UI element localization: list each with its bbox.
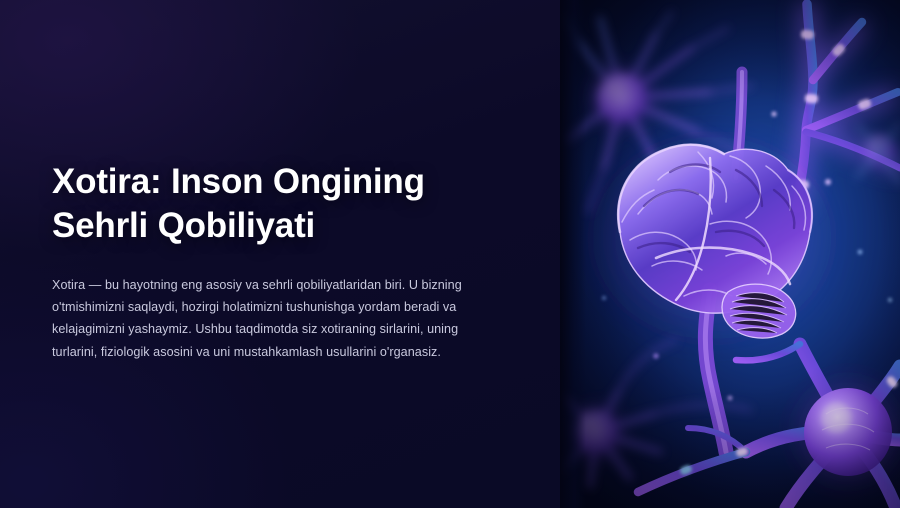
slide-title: Xotira: Inson Ongining Sehrli Qobiliyati bbox=[52, 160, 482, 248]
text-content-block: Xotira: Inson Ongining Sehrli Qobiliyati… bbox=[52, 160, 482, 363]
presentation-slide: Xotira: Inson Ongining Sehrli Qobiliyati… bbox=[0, 0, 900, 508]
neuron-network-illustration bbox=[560, 0, 900, 508]
title-text-panel: Xotira: Inson Ongining Sehrli Qobiliyati… bbox=[0, 0, 560, 508]
slide-body-paragraph: Xotira — bu hayotning eng asosiy va sehr… bbox=[52, 274, 472, 364]
image-left-edge-shadow bbox=[560, 0, 586, 508]
brain-illustration-panel bbox=[560, 0, 900, 508]
